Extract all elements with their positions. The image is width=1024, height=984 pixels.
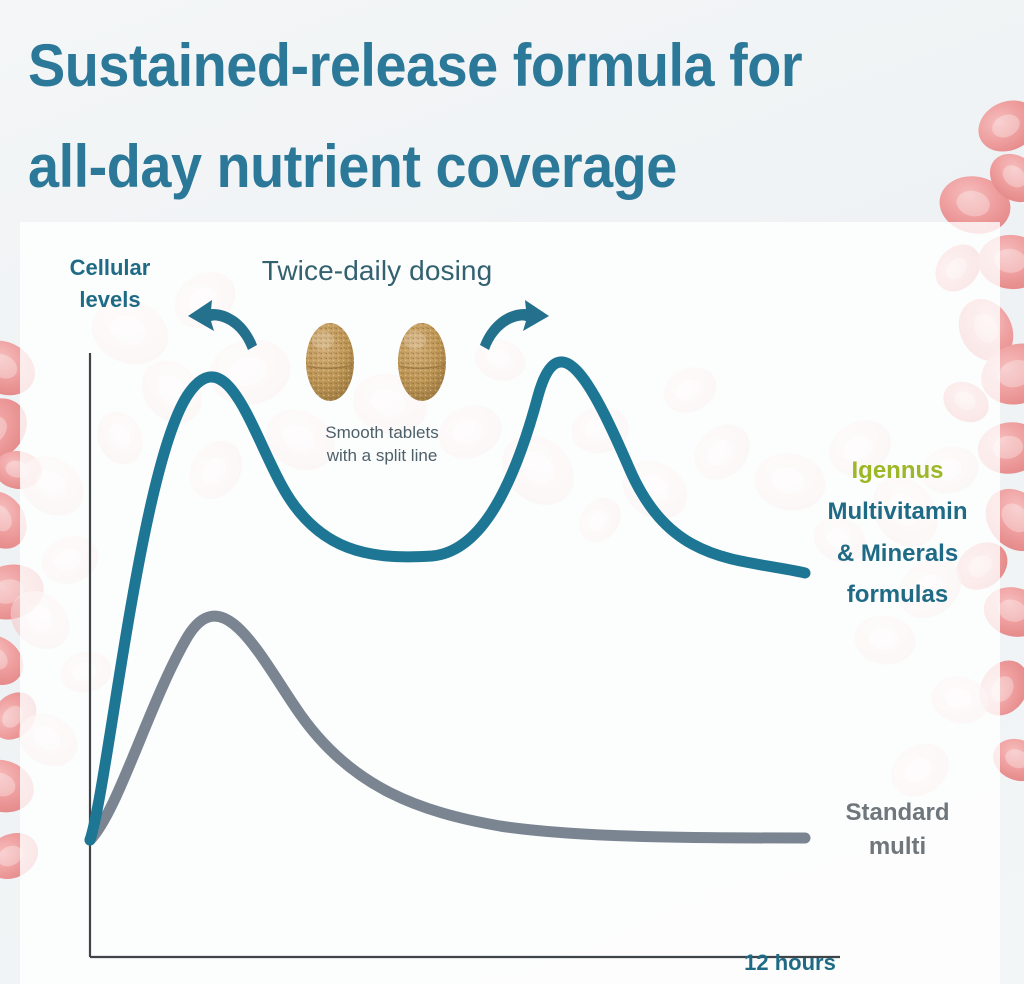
tablet-icon	[397, 322, 447, 402]
curved-arrow-left-icon	[188, 300, 257, 350]
x-axis-label: 12 hours	[700, 950, 880, 976]
legend-standard-multi: Standard multi	[790, 796, 1005, 864]
curved-arrow-right-icon	[480, 300, 549, 350]
legend-igennus: Igennus Multivitamin & Minerals formulas	[790, 450, 1005, 615]
tablet-caption: Smooth tablets with a split line	[282, 422, 482, 468]
infographic-root: Sustained-release formula for all-day nu…	[0, 0, 1024, 984]
series-standard-multi-line	[90, 616, 805, 840]
legend-igennus-brand: Igennus	[790, 450, 1005, 491]
tablet-icon	[305, 322, 355, 402]
legend-igennus-rest: Multivitamin & Minerals formulas	[790, 491, 1005, 615]
y-axis-label: Cellular levels	[40, 252, 180, 316]
dosing-label: Twice-daily dosing	[212, 255, 542, 287]
